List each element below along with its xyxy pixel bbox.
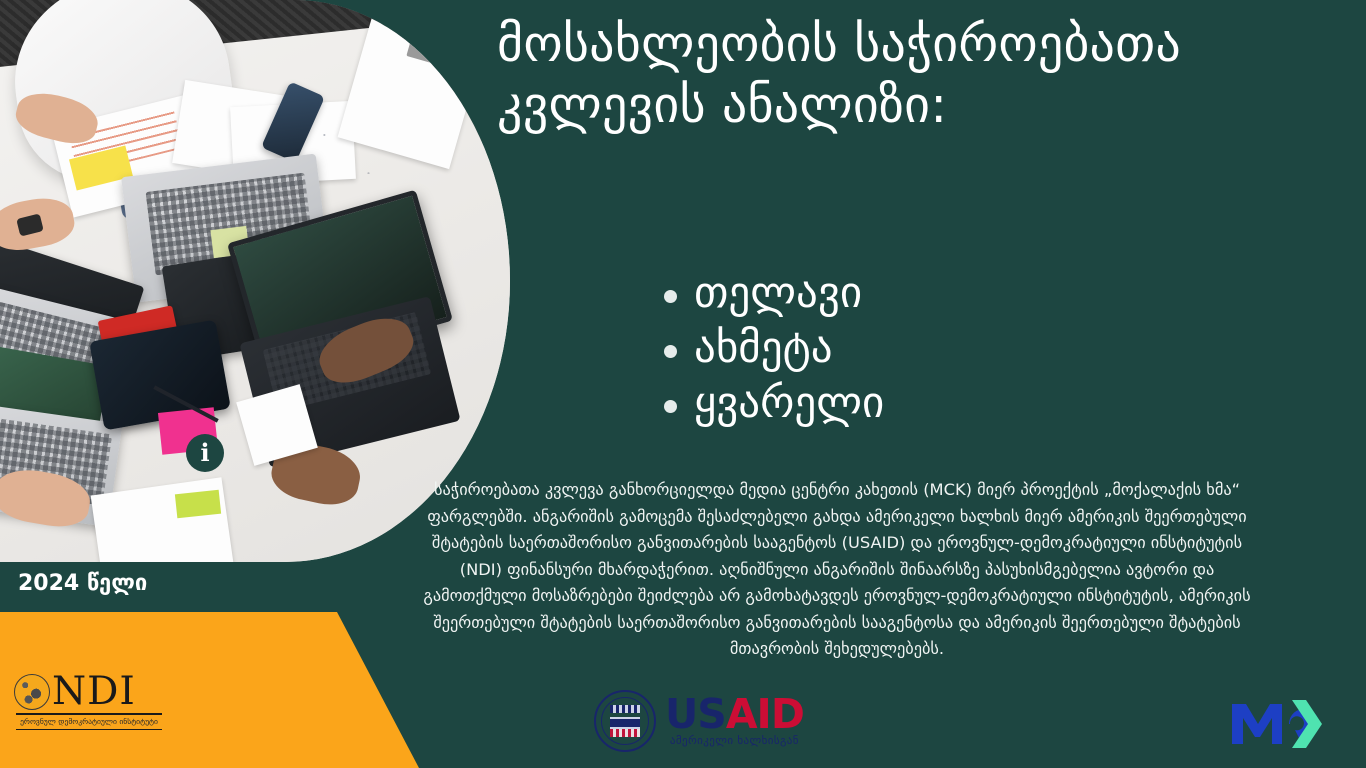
usaid-seal-icon	[594, 690, 656, 752]
year-label: 2024 წელი	[18, 571, 147, 596]
list-item: ყვარელი	[694, 376, 884, 431]
usaid-word-aid: AID	[726, 690, 804, 738]
info-icon: i	[186, 434, 224, 472]
usaid-seal-stripe-top	[610, 705, 640, 713]
ndi-wordmark: NDI	[52, 672, 136, 711]
usaid-seal-stripe-bottom	[610, 729, 640, 737]
ndi-subtitle: ეროვნულ დემოკრატიული ინსტიტუტი	[16, 717, 162, 727]
disclaimer-paragraph: საჭიროებათა კვლევა განხორციელდა მედია ცე…	[422, 477, 1252, 663]
city-list: თელავი ახმეტა ყვარელი	[660, 266, 884, 431]
usaid-tagline: ამერიკელი ხალხისგან	[665, 734, 804, 747]
photo-sticky-lime	[175, 490, 221, 518]
ndi-logo: NDI ეროვნულ დემოკრატიული ინსტიტუტი	[14, 672, 164, 730]
list-item: თელავი	[694, 266, 884, 321]
usaid-wordmark: USAID	[665, 695, 804, 734]
page-title: მოსახლეობის საჭიროებათა კვლევის ანალიზი:	[497, 14, 1227, 136]
mck-logo	[1228, 694, 1324, 748]
mck-logo-icon	[1228, 694, 1324, 748]
globe-icon	[14, 674, 50, 710]
usaid-seal-stripe-mid	[610, 717, 640, 729]
presentation-slide: i მოსახლეობის საჭიროებათა კვლევის ანალიზ…	[0, 0, 1366, 768]
ndi-divider-bottom	[16, 729, 162, 730]
usaid-logo: USAID ამერიკელი ხალხისგან	[594, 690, 804, 752]
usaid-word-us: US	[665, 690, 726, 738]
list-item: ახმეტა	[694, 321, 884, 376]
